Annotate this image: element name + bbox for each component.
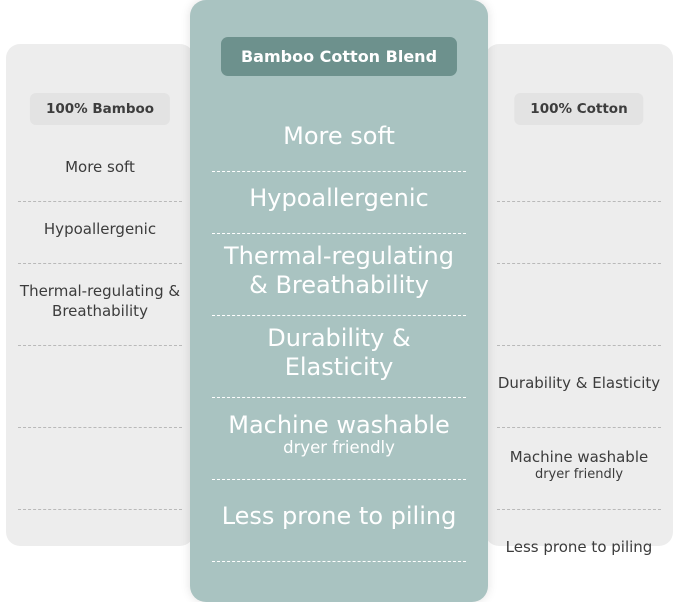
column-cotton: 100% Cotton Durability & Elasticity Mach… xyxy=(485,44,673,546)
feature-label: Machine washable dryer friendly xyxy=(228,411,450,467)
feature-row-empty xyxy=(18,428,182,510)
feature-row-empty xyxy=(497,202,661,264)
feature-label: Thermal-regulating & Breathability xyxy=(18,282,182,326)
feature-row-empty xyxy=(18,510,182,592)
column-blend: Bamboo Cotton Blend More soft Hypoallerg… xyxy=(190,0,488,602)
feature-label: Less prone to piling xyxy=(222,502,457,539)
feature-row: Thermal-regulating & Breathability xyxy=(212,234,466,316)
feature-row: More soft xyxy=(18,140,182,202)
column-title-bamboo: 100% Bamboo xyxy=(30,93,170,125)
feature-label: Less prone to piling xyxy=(506,538,653,563)
feature-row: Durability & Elasticity xyxy=(497,346,661,428)
feature-label-main: Machine washable xyxy=(510,448,648,466)
feature-label: Machine washable dryer friendly xyxy=(510,448,648,489)
feature-row: Less prone to piling xyxy=(497,510,661,592)
feature-row: Machine washable dryer friendly xyxy=(212,398,466,480)
feature-row-empty xyxy=(497,264,661,346)
column-title-cotton: 100% Cotton xyxy=(514,93,643,125)
feature-row: Durability & Elasticity xyxy=(212,316,466,398)
column-title-blend: Bamboo Cotton Blend xyxy=(221,37,457,76)
feature-row: Hypoallergenic xyxy=(18,202,182,264)
feature-row: More soft xyxy=(212,110,466,172)
feature-label: Hypoallergenic xyxy=(44,220,156,245)
feature-row-empty xyxy=(18,346,182,428)
feature-label-sub: dryer friendly xyxy=(510,467,648,483)
feature-list-blend: More soft Hypoallergenic Thermal-regulat… xyxy=(212,110,466,544)
feature-label: Hypoallergenic xyxy=(249,184,429,221)
feature-row: Machine washable dryer friendly xyxy=(497,428,661,510)
feature-list-cotton: Durability & Elasticity Machine washable… xyxy=(497,140,661,536)
feature-row: Hypoallergenic xyxy=(212,172,466,234)
feature-label: More soft xyxy=(283,122,395,159)
feature-row: Thermal-regulating & Breathability xyxy=(18,264,182,346)
feature-label: Durability & Elasticity xyxy=(498,374,660,399)
feature-row-empty xyxy=(497,140,661,202)
feature-label-main: Machine washable xyxy=(228,411,450,439)
feature-row: Less prone to piling xyxy=(212,480,466,562)
feature-label: Durability & Elasticity xyxy=(212,324,466,390)
feature-label: Thermal-regulating & Breathability xyxy=(212,242,466,308)
feature-label-sub: dryer friendly xyxy=(228,439,450,458)
feature-list-bamboo: More soft Hypoallergenic Thermal-regulat… xyxy=(18,140,182,536)
comparison-diagram: 100% Bamboo More soft Hypoallergenic The… xyxy=(0,0,679,602)
column-bamboo: 100% Bamboo More soft Hypoallergenic The… xyxy=(6,44,194,546)
feature-label: More soft xyxy=(65,158,135,183)
